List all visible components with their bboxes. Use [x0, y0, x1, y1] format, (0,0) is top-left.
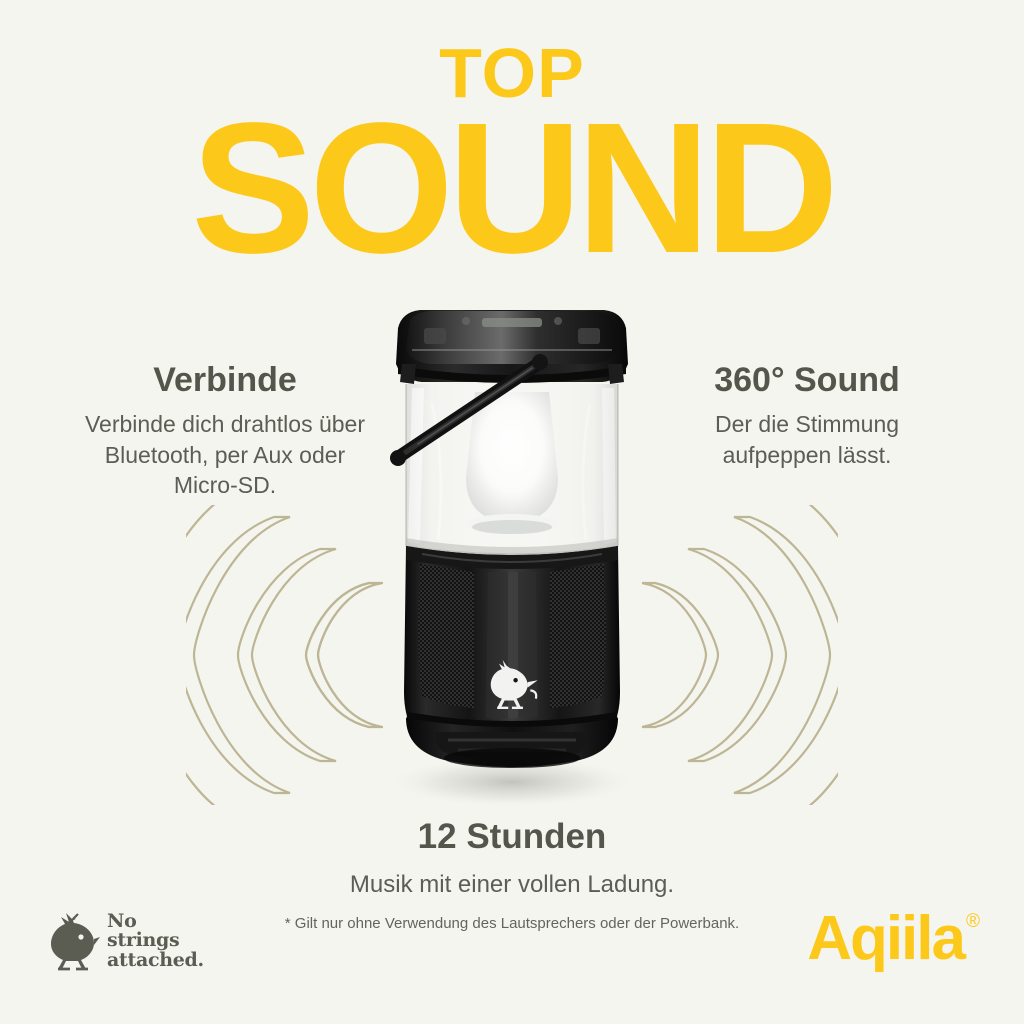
product-image-lantern-speaker: [362, 288, 662, 808]
feature-battery-footnote: * Gilt nur ohne Verwendung des Lautsprec…: [262, 913, 762, 934]
brand-logo: Aqiila ®: [807, 908, 980, 970]
bird-icon: [48, 911, 100, 971]
brand-name: Aqiila: [807, 908, 964, 970]
feature-verbinde-body: Verbinde dich drahtlos über Bluetooth, p…: [78, 409, 372, 500]
feature-verbinde: Verbinde Verbinde dich drahtlos über Blu…: [78, 362, 372, 500]
feature-battery-body: Musik mit einer vollen Ladung.: [262, 869, 762, 901]
feature-360-sound: 360° Sound Der die Stimmung aufpeppen lä…: [660, 362, 954, 470]
feature-360-sound-title: 360° Sound: [660, 362, 954, 399]
tagline-text: No strings attached.: [107, 912, 204, 970]
feature-battery: 12 Stunden Musik mit einer vollen Ladung…: [262, 818, 762, 934]
feature-verbinde-title: Verbinde: [78, 362, 372, 399]
feature-battery-title: 12 Stunden: [262, 818, 762, 857]
feature-360-sound-body: Der die Stimmung aufpeppen lässt.: [660, 409, 954, 470]
promo-graphic: TOP SOUND: [0, 0, 1024, 1024]
headline-main: SOUND: [0, 96, 1024, 282]
brand-trademark-symbol: ®: [966, 912, 980, 931]
tagline-logo: No strings attached.: [48, 905, 238, 977]
